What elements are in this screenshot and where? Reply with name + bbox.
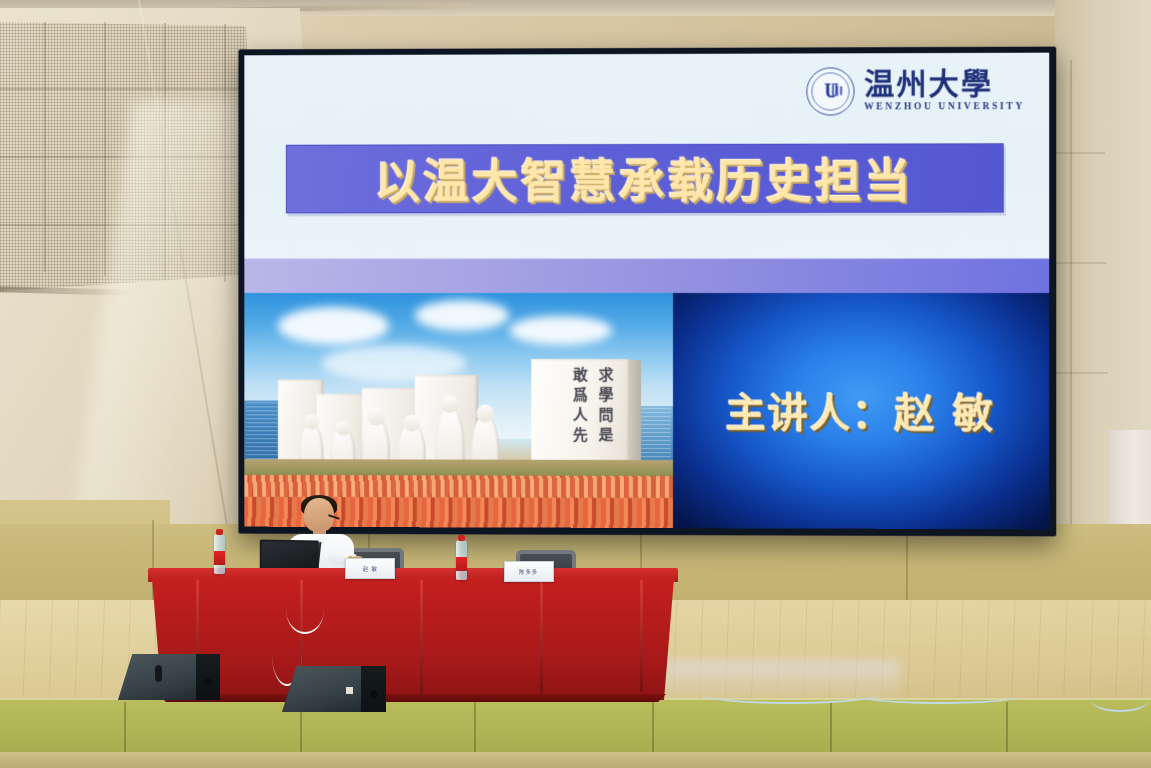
monitor-port-icon: [370, 690, 378, 698]
floor-cable: [860, 688, 1020, 704]
water-bottle-right[interactable]: [456, 540, 467, 580]
slide-header-area: U 温州大學 WENZHOU UNIVERSITY 以温大智慧承载历史担当: [244, 53, 1049, 258]
wall-seam: [1055, 262, 1107, 264]
acoustic-seam: [0, 88, 252, 90]
bottle-cap: [216, 529, 223, 535]
acoustic-seam: [44, 22, 46, 272]
figure-head: [336, 420, 351, 435]
university-logo: U 温州大學 WENZHOU UNIVERSITY: [807, 67, 1025, 116]
figure-head: [476, 405, 493, 422]
stage-monitor-left: [118, 654, 220, 700]
speaker-name: 主讲人：赵 敏: [673, 293, 1050, 529]
slide-divider-band: [244, 258, 1049, 293]
figure-head: [304, 414, 319, 429]
university-name-block: 温州大學 WENZHOU UNIVERSITY: [864, 70, 1025, 113]
namecard-right-text: 陈多多: [520, 567, 539, 575]
namecard-left-text: 赵 敏: [362, 564, 377, 572]
university-seal-icon: U: [807, 67, 855, 115]
wall-seam: [1070, 60, 1072, 530]
wall-seam: [1056, 372, 1108, 374]
floor-cable: [1090, 686, 1150, 712]
water-bottle-left[interactable]: [214, 534, 225, 574]
acoustic-seam: [104, 22, 106, 276]
namecard-left: 赵 敏: [345, 558, 395, 579]
floor-cable: [700, 684, 880, 704]
calligraphy-col-2: 敢爲人先: [569, 367, 590, 466]
monitor-port-icon: [204, 678, 212, 686]
seal-arcs-icon: [822, 83, 842, 99]
figure-head: [403, 414, 420, 431]
calligraphy-col-1: 求學問是: [595, 367, 616, 466]
wall-seam: [1055, 152, 1105, 154]
sculpture-calligraphy: 求學問是 敢爲人先: [538, 367, 616, 466]
campus-sculpture-photo: 求學問是 敢爲人先: [244, 293, 672, 528]
namecard-right: 陈多多: [504, 561, 554, 582]
cloud: [509, 316, 612, 344]
lawn-strip: [244, 459, 672, 476]
front-floor: [0, 752, 1151, 768]
bottle-cap: [458, 535, 465, 541]
university-name-cn: 温州大學: [864, 70, 1025, 101]
lecture-hall-scene: U 温州大學 WENZHOU UNIVERSITY 以温大智慧承载历史担当: [0, 0, 1151, 768]
figure-head: [441, 396, 458, 413]
presentation-slide: U 温州大學 WENZHOU UNIVERSITY 以温大智慧承载历史担当: [244, 53, 1049, 530]
bottle-label: [214, 551, 225, 565]
monitor-badge-icon: [346, 687, 353, 694]
table-cloth: [152, 578, 674, 700]
led-display-screen[interactable]: U 温州大學 WENZHOU UNIVERSITY 以温大智慧承载历史担当: [238, 47, 1056, 537]
table-cloth-hem: [158, 694, 666, 702]
screen-bezel: U 温州大學 WENZHOU UNIVERSITY 以温大智慧承载历史担当: [244, 53, 1049, 530]
slide-title-banner: 以温大智慧承载历史担当: [286, 143, 1004, 213]
speaker-panel: 主讲人：赵 敏: [673, 293, 1050, 529]
monitor-handle: [155, 665, 162, 682]
cloth-fold: [540, 580, 543, 694]
university-name-en: WENZHOU UNIVERSITY: [864, 103, 1025, 113]
stage-monitor-right: [282, 666, 386, 712]
cloth-fold: [420, 580, 423, 696]
slide-body-area: 求學問是 敢爲人先: [244, 293, 1049, 529]
slide-title: 以温大智慧承载历史担当: [375, 145, 914, 212]
figure-head: [368, 408, 385, 425]
seal-letter: U: [824, 80, 838, 103]
bottle-label: [456, 557, 467, 571]
cloth-fold: [640, 580, 643, 692]
cloud: [415, 300, 509, 331]
cloud: [278, 307, 389, 344]
